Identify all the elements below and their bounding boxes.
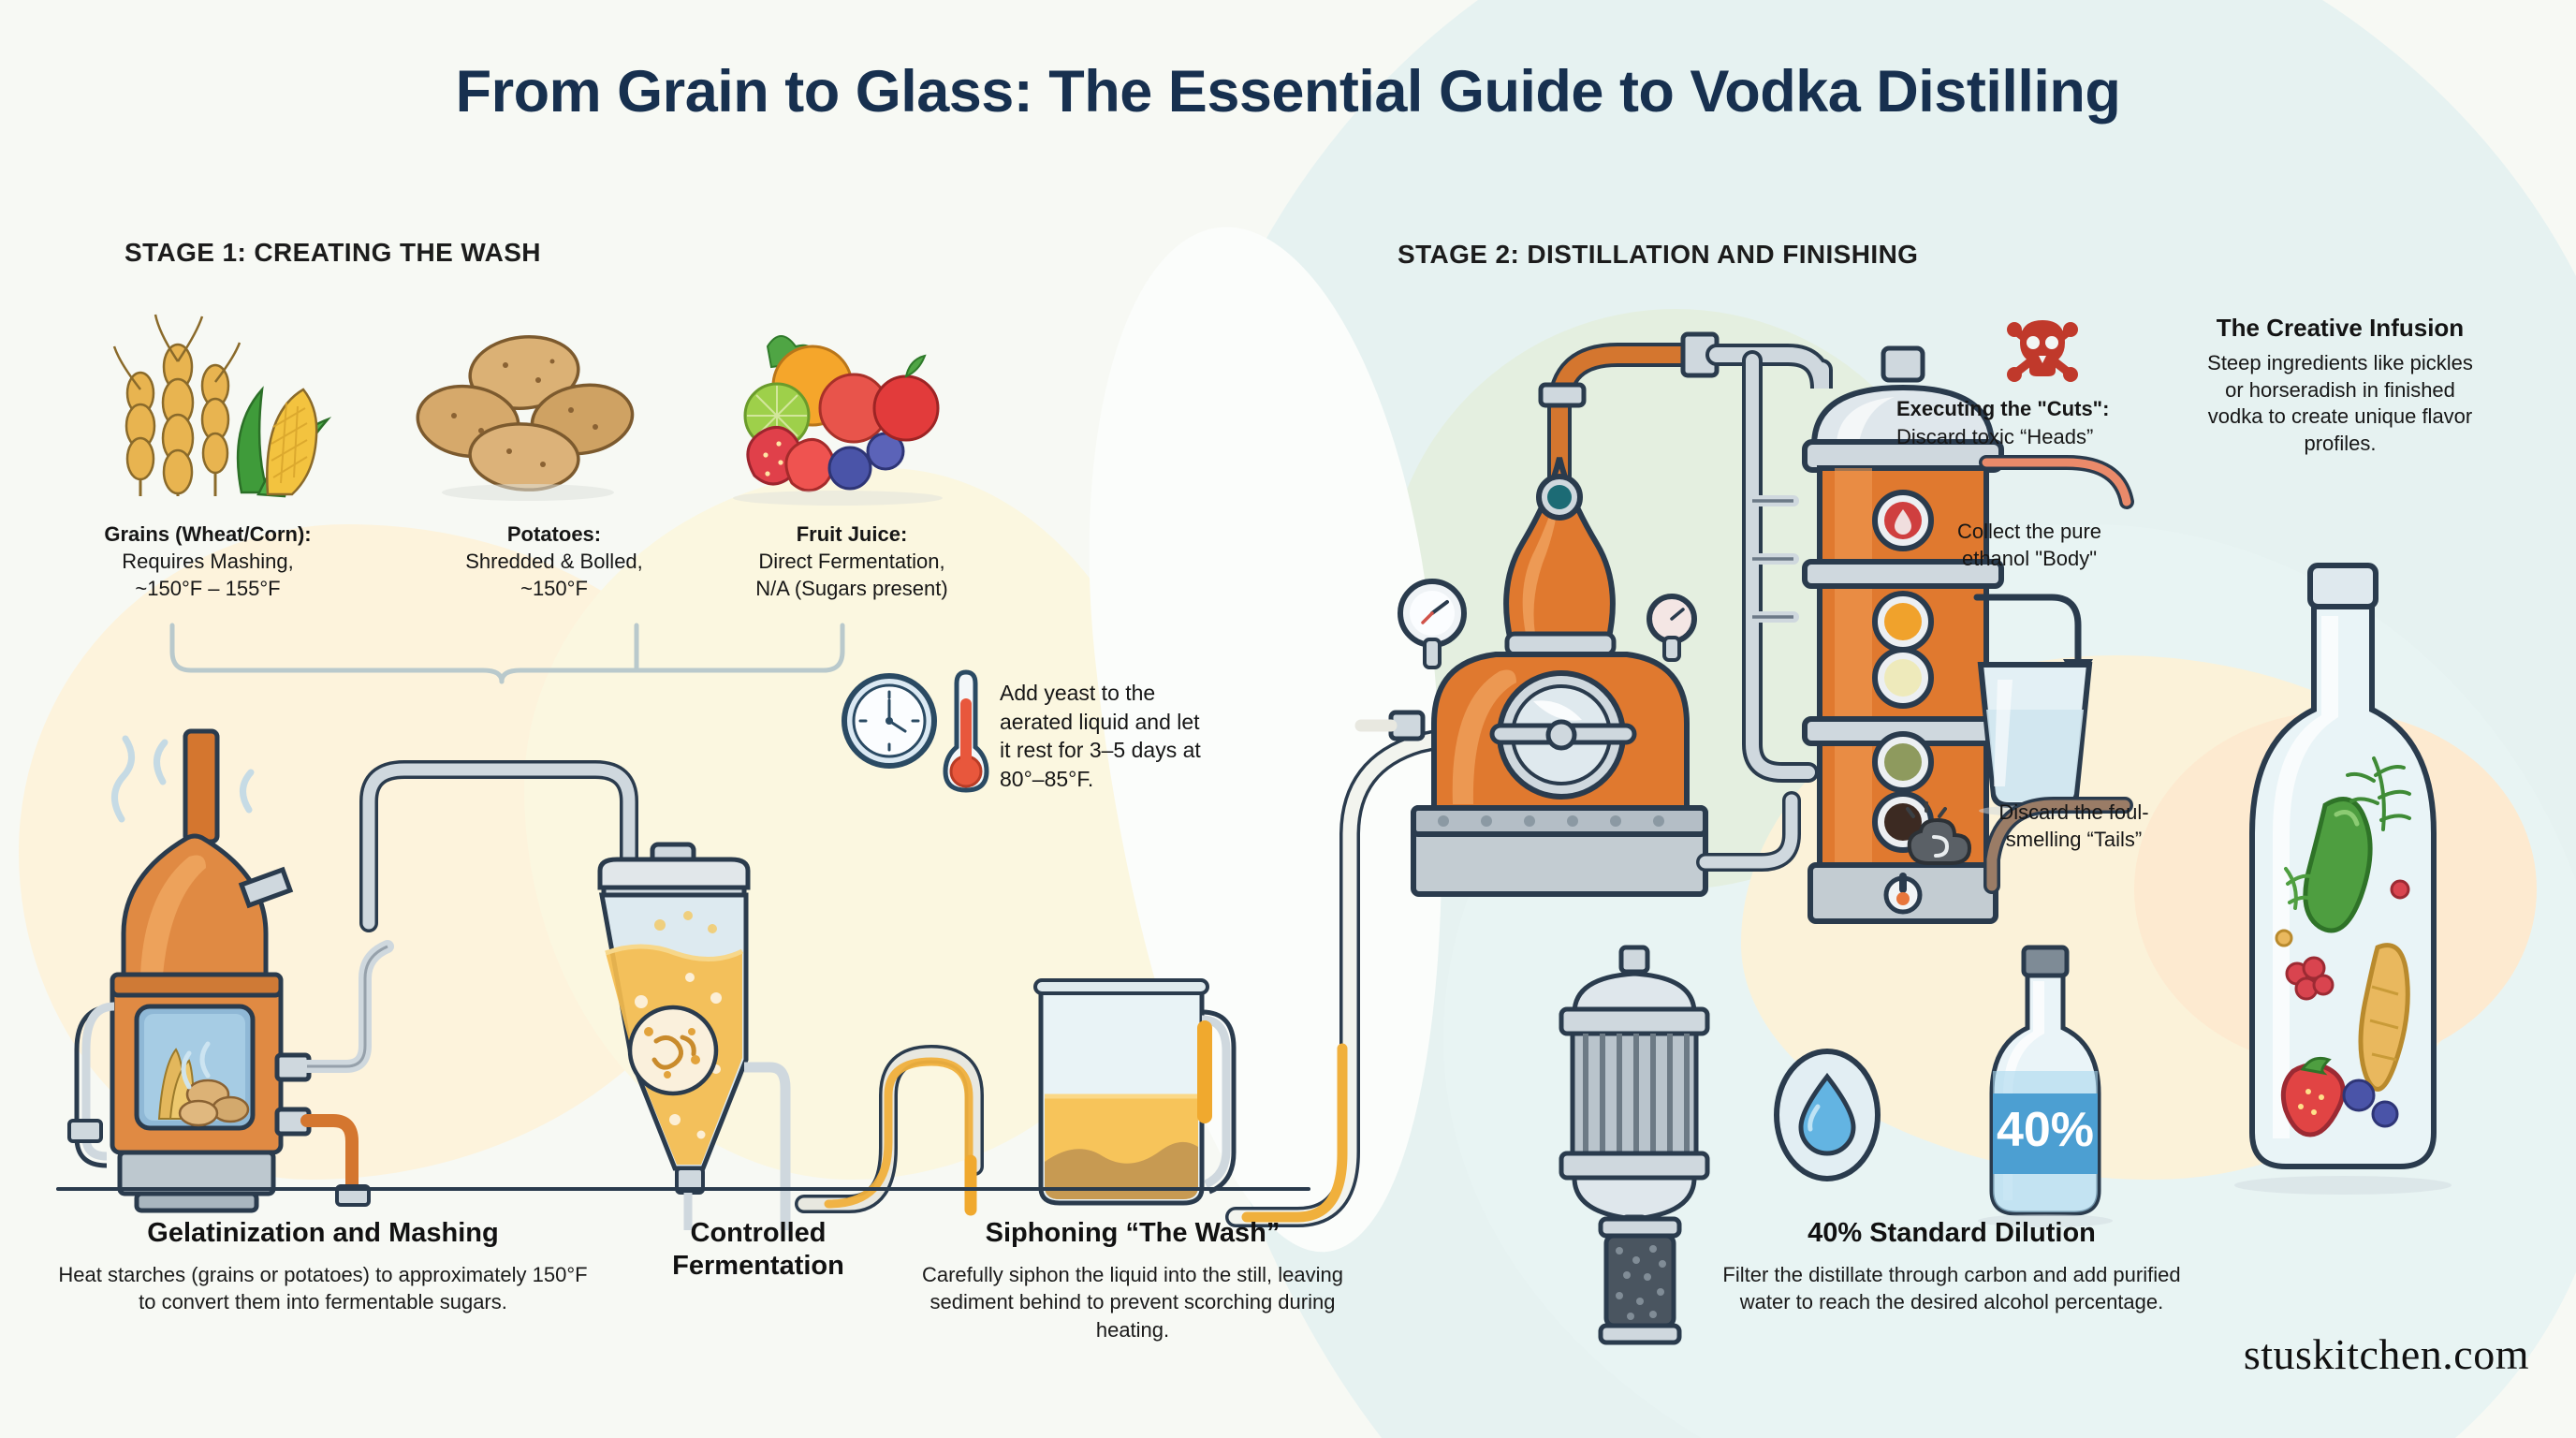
cuts-heading: Executing the "Cuts": (1896, 397, 2109, 420)
clock-icon (838, 669, 941, 772)
ingredient-line1-potatoes: Shredded & Bolled, (465, 550, 643, 573)
ingredient-label-fruit: Fruit Juice: Direct Fermentation, N/A (S… (693, 521, 1011, 602)
ingredient-line1-fruit: Direct Fermentation, (758, 550, 944, 573)
caption-dilution: 40% Standard Dilution Filter the distill… (1704, 1217, 2200, 1316)
cuts-note: Executing the "Cuts": Discard toxic “Hea… (1896, 395, 2177, 450)
caption-gelatinization: Gelatinization and Mashing Heat starches… (56, 1217, 590, 1316)
ingredient-label-potatoes: Potatoes: Shredded & Bolled, ~150°F (404, 521, 704, 602)
yeast-note: Add yeast to the aerated liquid and let … (1000, 679, 1201, 793)
caption-body-dilution: Filter the distillate through carbon and… (1704, 1261, 2200, 1316)
carbon-filter-illustration (1554, 946, 1732, 1236)
wheat-corn-icon (84, 300, 328, 506)
caption-heading-fermentation: Controlled Fermentation (618, 1217, 899, 1283)
glass-illustration (1960, 655, 2110, 814)
thermometer-icon (936, 667, 992, 798)
skull-crossbones-icon (2003, 316, 2082, 389)
fruit-icon (711, 318, 964, 506)
caption-heading-gelatinization: Gelatinization and Mashing (56, 1217, 590, 1250)
page-title: From Grain to Glass: The Essential Guide… (0, 58, 2576, 125)
potatoes-icon (412, 328, 646, 496)
forty-percent-bottle-illustration: 40% (1966, 946, 2125, 1226)
heads-spout (1983, 449, 2151, 524)
carbon-cartridge-icon (1565, 1217, 1715, 1348)
stage-1-heading: STAGE 1: CREATING THE WASH (124, 238, 541, 268)
ingredient-line2-fruit: N/A (Sugars present) (755, 577, 947, 600)
ingredient-line2-grains: ~150°F – 155°F (135, 577, 280, 600)
ingredient-name-grains: Grains (Wheat/Corn): (58, 521, 358, 548)
ingredient-name-fruit: Fruit Juice: (693, 521, 1011, 548)
caption-body-gelatinization: Heat starches (grains or potatoes) to ap… (56, 1261, 590, 1316)
body-note: Collect the pure ethanol "Body" (1936, 518, 2123, 573)
caption-heading-dilution: 40% Standard Dilution (1704, 1217, 2200, 1250)
ingredient-name-potatoes: Potatoes: (404, 521, 704, 548)
bottle-percentage-label: 40% (1997, 1103, 2094, 1157)
infusion-heading: The Creative Infusion (2204, 314, 2476, 343)
watermark: stuskitchen.com (2244, 1329, 2529, 1379)
ground-line-left (56, 1187, 1310, 1193)
tails-note: Discard the foul-smelling “Tails” (1983, 799, 2165, 854)
caption-siphoning: Siphoning “The Wash” Carefully siphon th… (913, 1217, 1353, 1344)
cuts-body: Discard toxic “Heads” (1896, 425, 2093, 448)
caption-fermentation: Controlled Fermentation (618, 1217, 899, 1283)
caption-heading-siphoning: Siphoning “The Wash” (913, 1217, 1353, 1250)
infusion-body: Steep ingredients like pickles or horser… (2204, 350, 2476, 457)
ingredient-line2-potatoes: ~150°F (520, 577, 588, 600)
stage-2-heading: STAGE 2: DISTILLATION AND FINISHING (1398, 240, 1918, 270)
creative-infusion-block: The Creative Infusion Steep ingredients … (2204, 314, 2476, 458)
water-drop-icon (1771, 1047, 1883, 1183)
smoke-icon (1902, 803, 1981, 882)
ingredient-line1-grains: Requires Mashing, (122, 550, 293, 573)
infusion-bottle-illustration (2217, 560, 2469, 1206)
caption-body-siphoning: Carefully siphon the liquid into the sti… (913, 1261, 1353, 1344)
ingredient-label-grains: Grains (Wheat/Corn): Requires Mashing, ~… (58, 521, 358, 602)
ingredient-bracket (168, 618, 880, 683)
